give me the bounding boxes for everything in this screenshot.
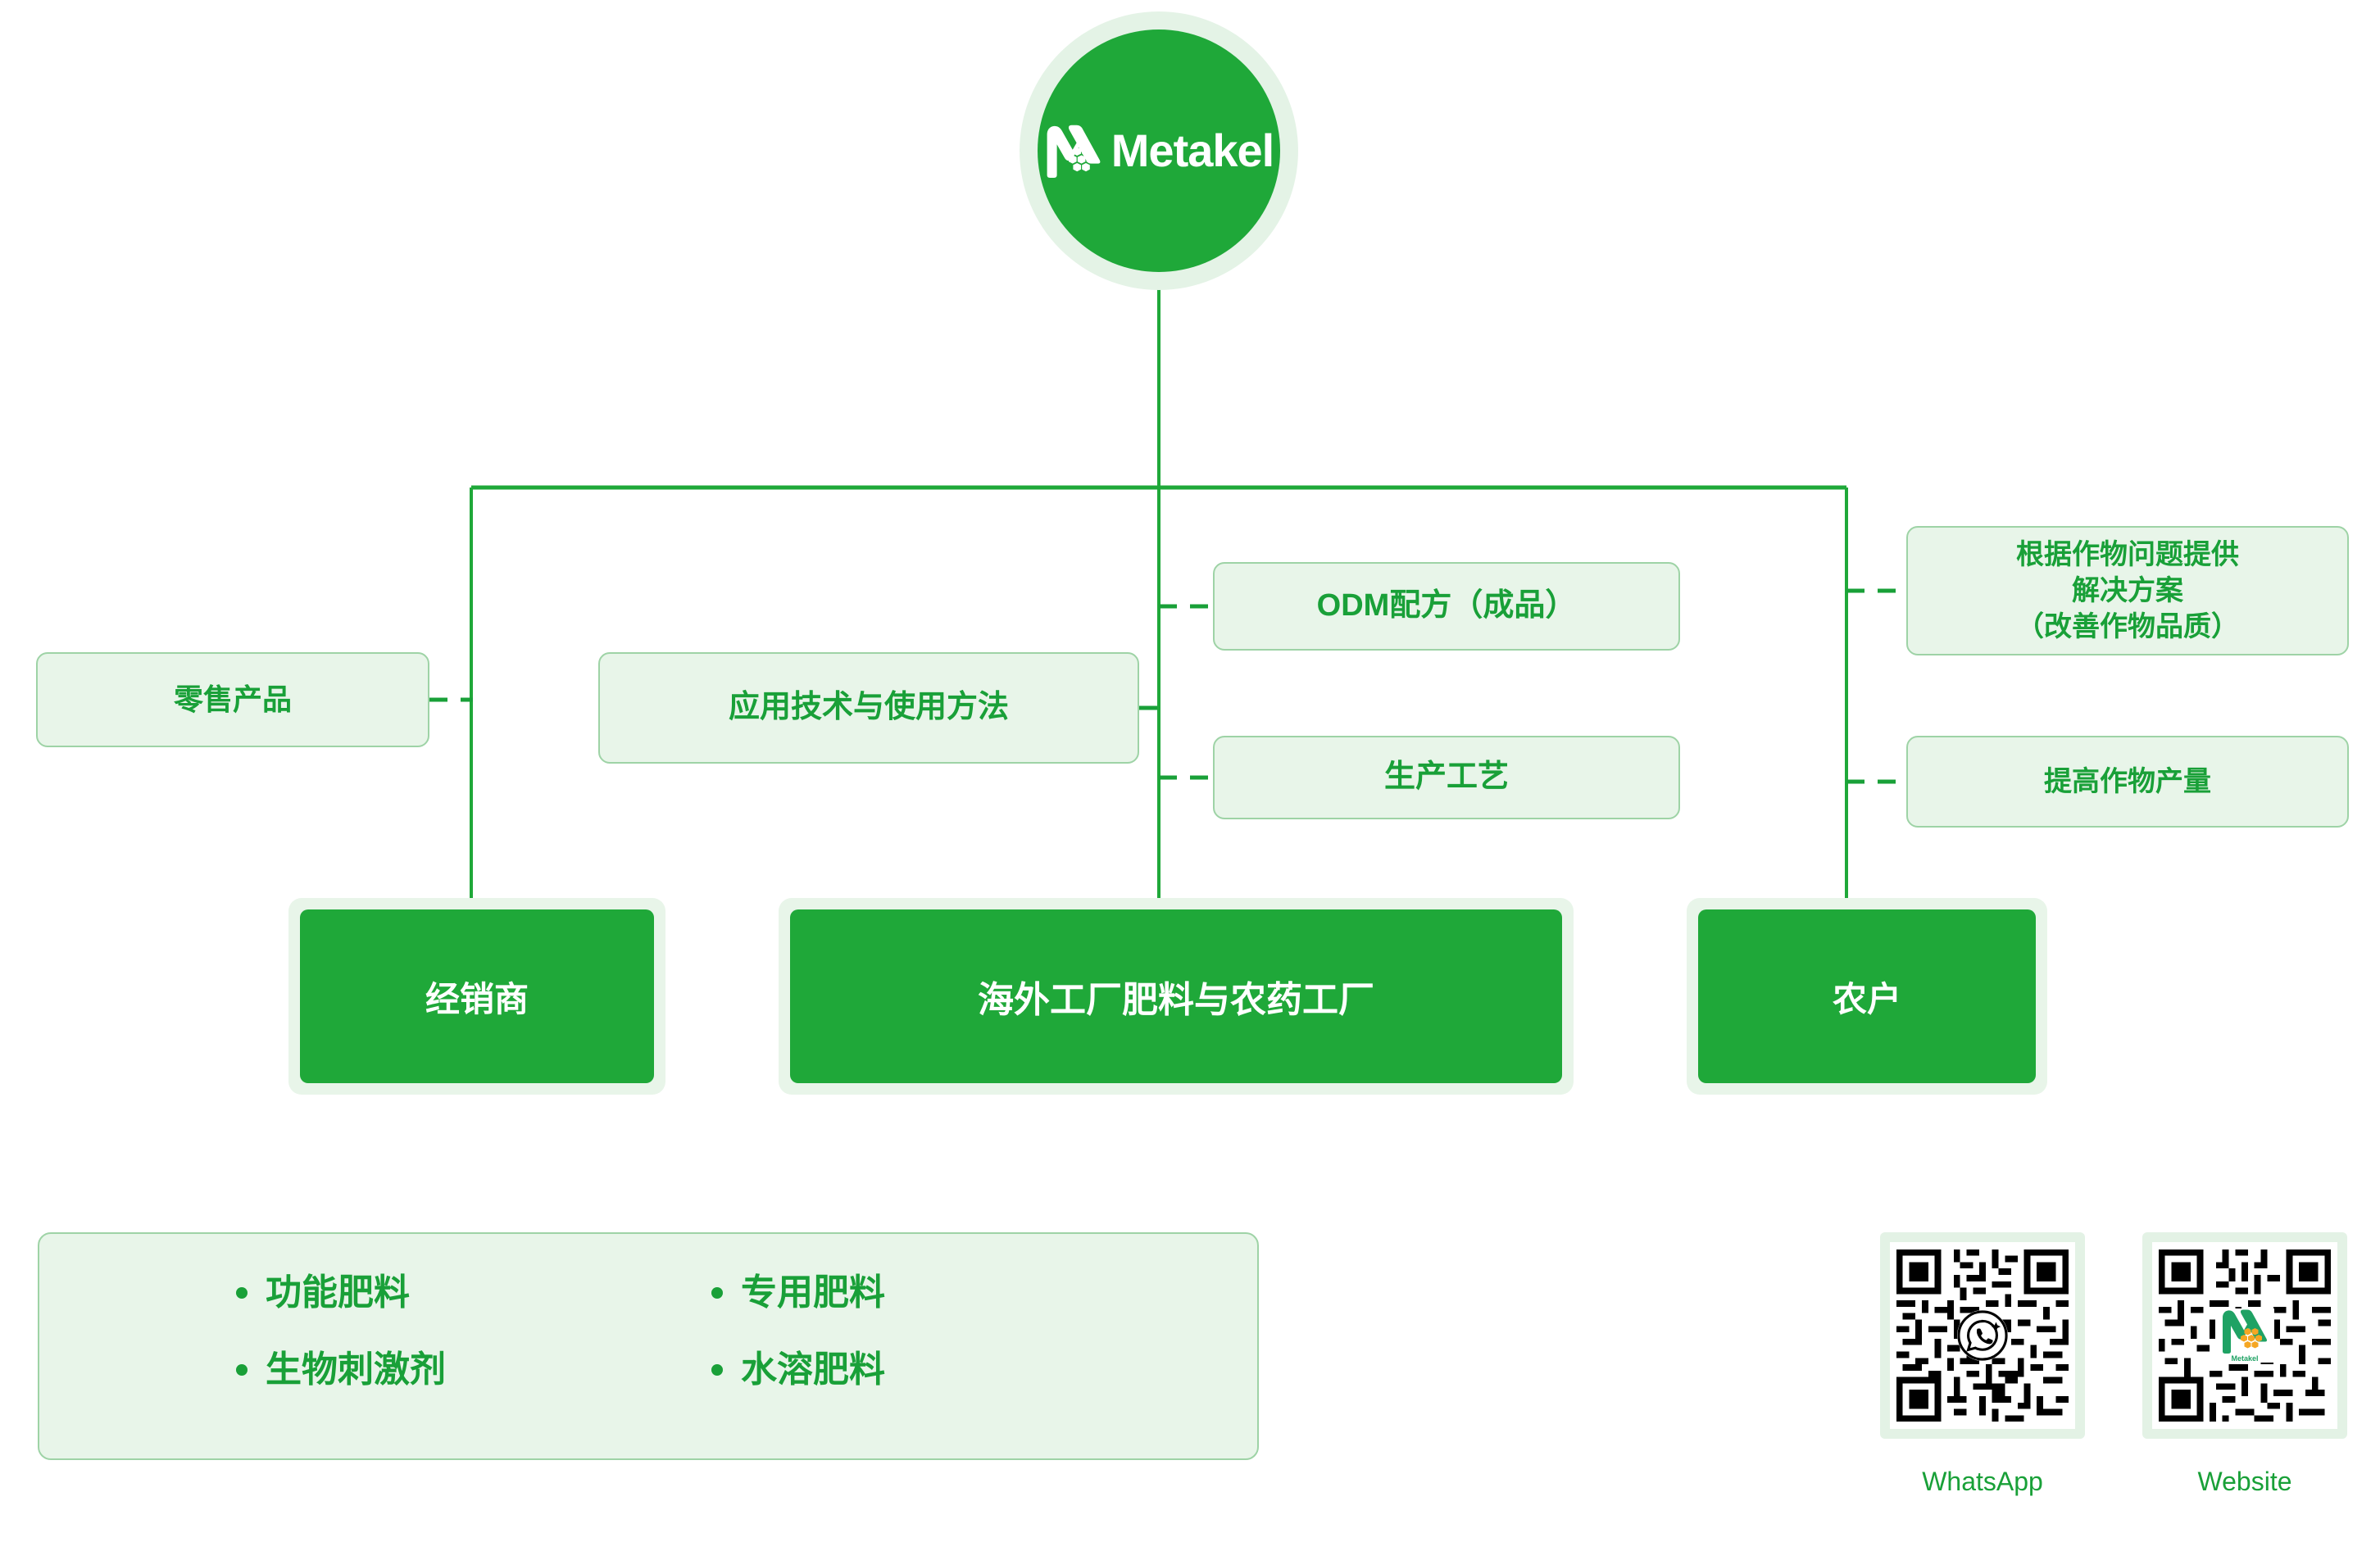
metakel-m-hex-logo-icon: Metakel: [2215, 1308, 2274, 1363]
bullet-dot-icon: [711, 1364, 723, 1376]
bullet-dot-icon: [236, 1364, 248, 1376]
node-application-technology[interactable]: 应用技术与使用方法: [598, 652, 1139, 764]
node-farmer[interactable]: 农户: [1698, 909, 2036, 1083]
node-factory-frame: 海外工厂肥料与农药工厂: [779, 898, 1574, 1095]
node-overseas-factory-label: 海外工厂肥料与农药工厂: [978, 970, 1374, 1023]
qr-code-website-label: Website: [2142, 1467, 2347, 1497]
list-item-label: 水溶肥料: [741, 1352, 885, 1388]
metakel-m-hex-logo-icon: [1044, 124, 1103, 178]
node-farmer-frame: 农户: [1687, 898, 2047, 1095]
node-farmer-label: 农户: [1833, 972, 1901, 1022]
node-crop-yield[interactable]: 提高作物产量: [1906, 736, 2349, 828]
node-crop-yield-label: 提高作物产量: [2031, 764, 2224, 800]
bullet-dot-icon: [236, 1287, 248, 1299]
list-item-label: 功能肥料: [266, 1275, 410, 1311]
logo-wordmark: Metakel: [1111, 128, 1274, 174]
node-dealer-label: 经销商: [425, 972, 529, 1022]
qr-badge-wordmark: Metakel: [2231, 1355, 2258, 1363]
node-retail-products[interactable]: 零售产品: [36, 652, 429, 747]
logo-node[interactable]: Metakel: [1038, 29, 1280, 272]
node-production-process[interactable]: 生产工艺: [1213, 736, 1680, 819]
list-item: 水溶肥料: [711, 1352, 982, 1388]
qr-code-website[interactable]: Metakel: [2142, 1232, 2347, 1439]
node-retail-products-label: 零售产品: [161, 681, 305, 719]
product-category-panel: 功能肥料 专用肥料 生物刺激剂 水溶肥料: [38, 1232, 1259, 1460]
bullet-dot-icon: [711, 1287, 723, 1299]
list-item-label: 专用肥料: [741, 1275, 885, 1311]
node-odm-formula[interactable]: ODM配方（成品）: [1213, 562, 1680, 651]
list-item: 功能肥料: [236, 1275, 506, 1311]
node-dealer-frame: 经销商: [288, 898, 665, 1095]
node-production-process-label: 生产工艺: [1371, 757, 1522, 797]
qr-code-whatsapp-label: WhatsApp: [1880, 1467, 2085, 1497]
node-dealer[interactable]: 经销商: [300, 909, 654, 1083]
list-item: 生物刺激剂: [236, 1352, 506, 1388]
node-crop-solution[interactable]: 根据作物问题提供 解决方案 （改善作物品质）: [1906, 526, 2349, 655]
node-overseas-factory[interactable]: 海外工厂肥料与农药工厂: [790, 909, 1562, 1083]
node-crop-solution-label: 根据作物问题提供 解决方案 （改善作物品质）: [2003, 537, 2252, 646]
qr-code-whatsapp[interactable]: [1880, 1232, 2085, 1439]
list-item: 专用肥料: [711, 1275, 982, 1311]
node-application-technology-label: 应用技术与使用方法: [715, 687, 1022, 728]
diagram-canvas: Metakel 零售产品 应用技术与使用方法 ODM配方（成品） 生产工艺 根据…: [0, 0, 2380, 1542]
node-odm-formula-label: ODM配方（成品）: [1304, 586, 1590, 626]
whatsapp-icon: [1957, 1310, 2008, 1361]
list-item-label: 生物刺激剂: [266, 1352, 446, 1388]
